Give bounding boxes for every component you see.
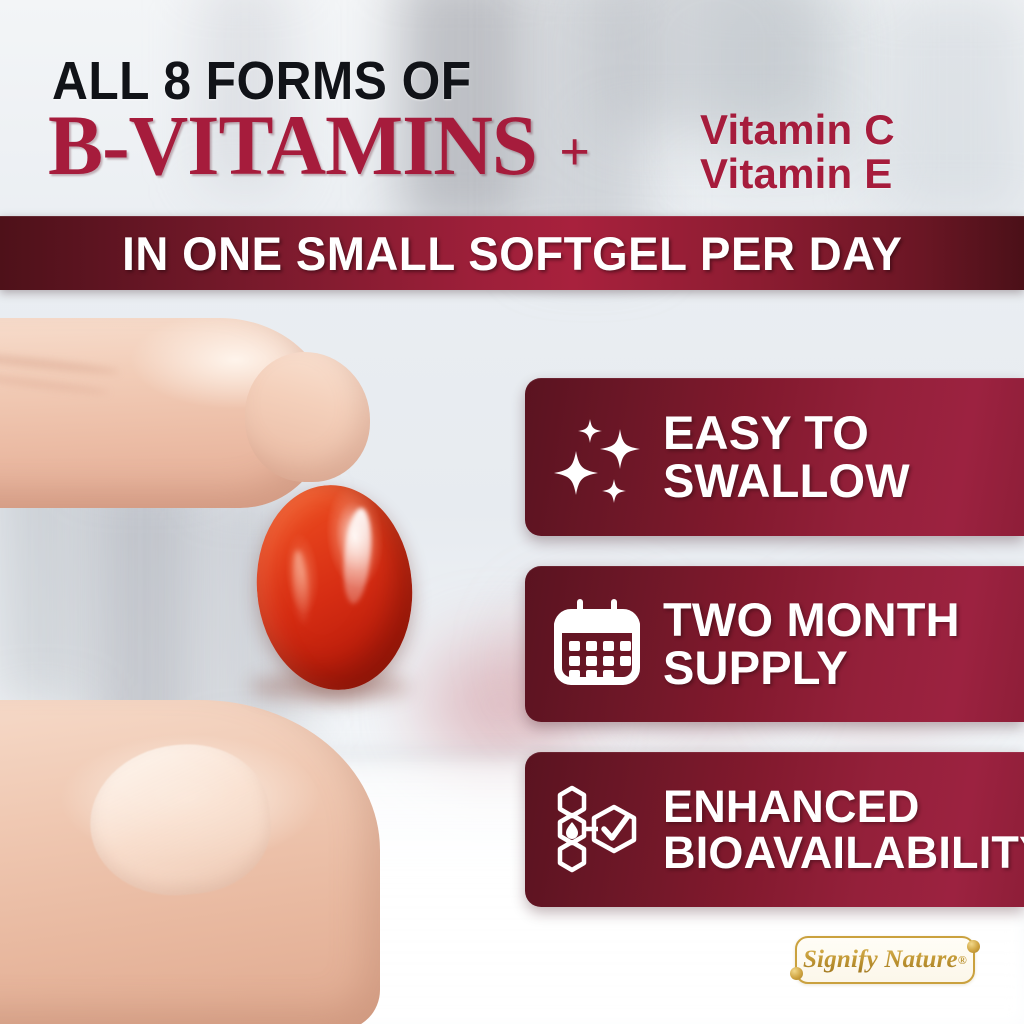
- feature-card-easy-to-swallow: EASY TO SWALLOW: [525, 378, 1024, 536]
- brand-logo: Signify Nature®: [795, 936, 975, 984]
- feature-label-two-month-supply: TWO MONTH SUPPLY: [663, 596, 960, 692]
- marketing-graphic: ALL 8 FORMS OF B-VITAMINS + Vitamin C Vi…: [0, 0, 1024, 1024]
- feature-label-easy-to-swallow: EASY TO SWALLOW: [663, 409, 910, 505]
- molecule-check-icon: [547, 777, 653, 883]
- calendar-icon: [547, 591, 653, 697]
- logo-registered-mark: ®: [958, 953, 967, 968]
- feature-card-two-month-supply: TWO MONTH SUPPLY: [525, 566, 1024, 722]
- feature-card-list: EASY TO SWALLOW: [0, 0, 1024, 1024]
- sparkles-icon: [547, 404, 653, 510]
- logo-brand-name: Signify Nature: [803, 946, 958, 974]
- logo-text-wrap: Signify Nature®: [795, 936, 975, 984]
- feature-card-enhanced-bioavailability: ENHANCED BIOAVAILABILITY: [525, 752, 1024, 907]
- feature-label-enhanced-bioavailability: ENHANCED BIOAVAILABILITY: [663, 784, 1024, 876]
